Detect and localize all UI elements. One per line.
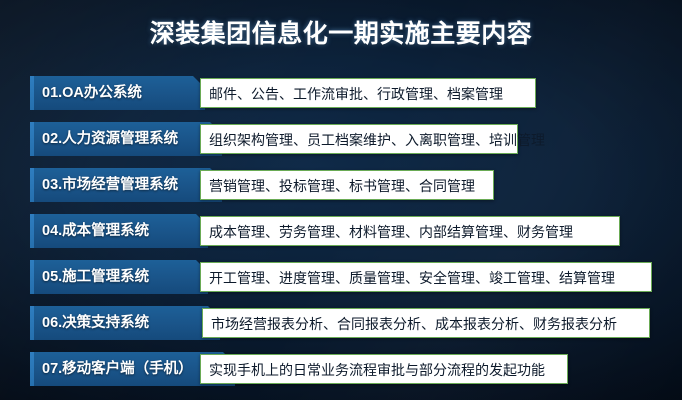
system-row: 03.市场经营管理系统营销管理、投标管理、标书管理、合同管理: [0, 168, 682, 202]
system-row: 07.移动客户端（手机）实现手机上的日常业务流程审批与部分流程的发起功能: [0, 352, 682, 386]
system-label-text: 06.决策支持系统: [42, 306, 149, 340]
page-title: 深装集团信息化一期实施主要内容: [0, 14, 682, 50]
plate-accent-bar: [30, 260, 34, 294]
system-list: 01.OA办公系统邮件、公告、工作流审批、行政管理、档案管理02.人力资源管理系…: [0, 76, 682, 398]
plate-accent-bar: [30, 76, 34, 110]
system-row: 02.人力资源管理系统组织架构管理、员工档案维护、入离职管理、培训管理: [0, 122, 682, 156]
system-row: 05.施工管理系统开工管理、进度管理、质量管理、安全管理、竣工管理、结算管理: [0, 260, 682, 294]
system-label-text: 02.人力资源管理系统: [42, 122, 178, 156]
system-label-text: 03.市场经营管理系统: [42, 168, 178, 202]
system-row: 06.决策支持系统市场经营报表分析、合同报表分析、成本报表分析、财务报表分析: [0, 306, 682, 340]
system-label-text: 04.成本管理系统: [42, 214, 149, 248]
system-content-box[interactable]: 邮件、公告、工作流审批、行政管理、档案管理: [200, 78, 536, 108]
plate-accent-bar: [30, 306, 34, 340]
system-content-box[interactable]: 开工管理、进度管理、质量管理、安全管理、竣工管理、结算管理: [200, 262, 652, 292]
system-content-box[interactable]: 实现手机上的日常业务流程审批与部分流程的发起功能: [200, 354, 568, 384]
system-label-text: 07.移动客户端（手机）: [42, 352, 193, 386]
system-content-box[interactable]: 组织架构管理、员工档案维护、入离职管理、培训管理: [200, 124, 518, 154]
system-content-box[interactable]: 营销管理、投标管理、标书管理、合同管理: [200, 170, 494, 200]
plate-accent-bar: [30, 122, 34, 156]
system-row: 01.OA办公系统邮件、公告、工作流审批、行政管理、档案管理: [0, 76, 682, 110]
system-content-box[interactable]: 成本管理、劳务管理、材料管理、内部结算管理、财务管理: [200, 216, 620, 246]
plate-accent-bar: [30, 352, 34, 386]
plate-accent-bar: [30, 214, 34, 248]
system-label-text: 01.OA办公系统: [42, 76, 142, 110]
plate-accent-bar: [30, 168, 34, 202]
system-content-box[interactable]: 市场经营报表分析、合同报表分析、成本报表分析、财务报表分析: [202, 308, 650, 338]
system-row: 04.成本管理系统成本管理、劳务管理、材料管理、内部结算管理、财务管理: [0, 214, 682, 248]
slide-canvas: 深装集团信息化一期实施主要内容 01.OA办公系统邮件、公告、工作流审批、行政管…: [0, 0, 682, 400]
system-label-text: 05.施工管理系统: [42, 260, 149, 294]
